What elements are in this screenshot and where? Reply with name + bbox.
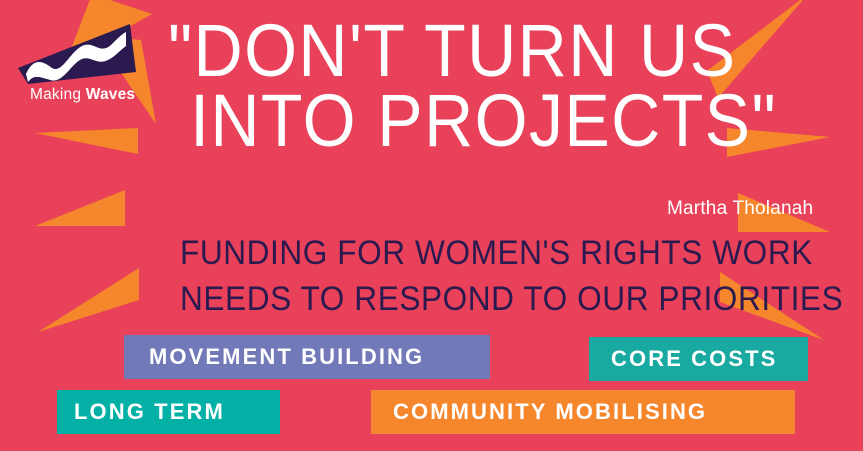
poster-canvas: Making Waves "DON'T TURN US INTO PROJECT… [0, 0, 863, 451]
headline-quote: "DON'T TURN US INTO PROJECTS" [168, 16, 656, 157]
triangle-icon [38, 268, 139, 332]
headline-line-2: INTO PROJECTS" [168, 86, 656, 156]
subtitle-line-1: FUNDING FOR WOMEN'S RIGHTS WORK [180, 231, 664, 277]
logo-word-waves: Waves [86, 86, 136, 103]
triangle-icon [35, 128, 138, 154]
tag-long-term[interactable]: LONG TERM [57, 390, 280, 434]
tag-label: LONG TERM [74, 399, 225, 425]
headline-line-1: "DON'T TURN US [168, 16, 656, 86]
tag-label: CORE COSTS [611, 346, 777, 372]
tag-community-mobilising[interactable]: COMMUNITY MOBILISING [371, 390, 795, 434]
tag-label: COMMUNITY MOBILISING [393, 399, 707, 425]
wave-mark-icon [14, 16, 138, 86]
logo-wordmark: Making Waves [30, 86, 135, 104]
logo[interactable]: Making Waves [14, 16, 154, 112]
tag-label: MOVEMENT BUILDING [149, 344, 424, 370]
subtitle: FUNDING FOR WOMEN'S RIGHTS WORK NEEDS TO… [180, 231, 664, 322]
tag-core-costs[interactable]: CORE COSTS [589, 337, 808, 381]
quote-attribution: Martha Tholanah [667, 198, 813, 220]
tag-movement-building[interactable]: MOVEMENT BUILDING [124, 335, 490, 379]
subtitle-line-2: NEEDS TO RESPOND TO OUR PRIORITIES [180, 277, 664, 323]
triangle-icon [35, 190, 125, 226]
logo-word-making: Making [30, 86, 81, 103]
